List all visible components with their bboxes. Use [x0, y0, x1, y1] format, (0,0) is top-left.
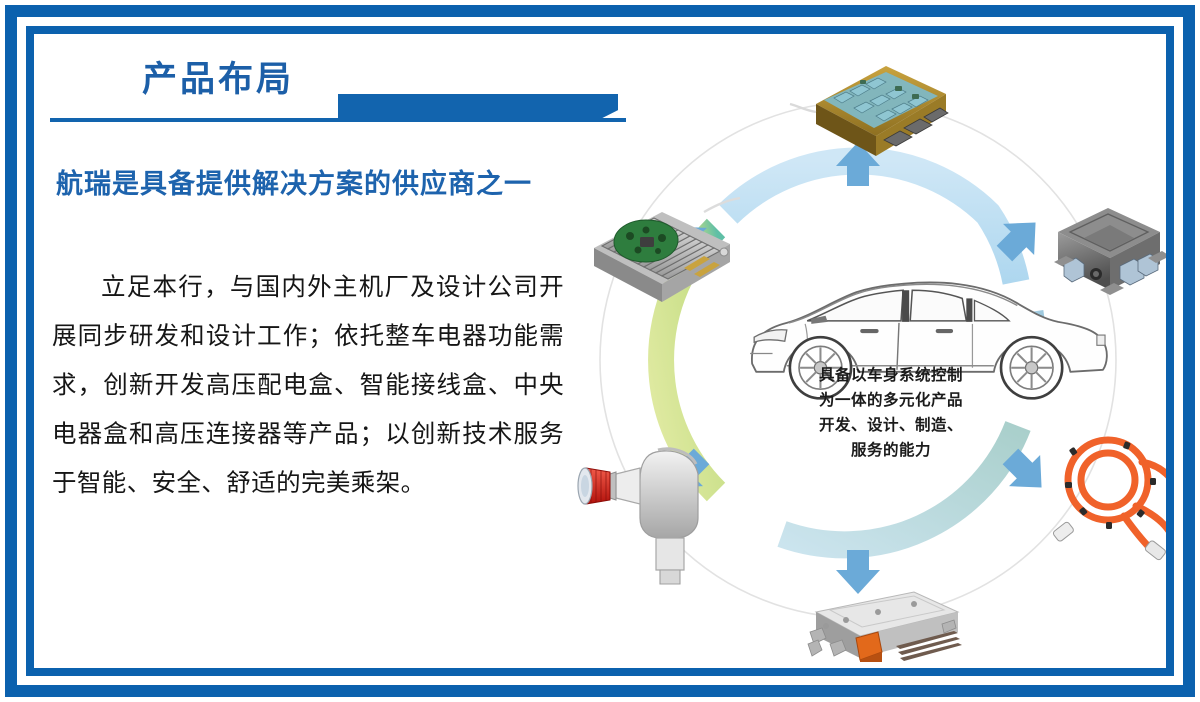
slide-root: 产品布局 航瑞是具备提供解决方案的供应商之一 立足本行，与国内外主机厂及设计公司…	[0, 0, 1200, 702]
center-caption-line-4: 服务的能力	[778, 437, 1004, 462]
center-caption-line-2: 为一体的多元化产品	[778, 387, 1004, 412]
title-block: 产品布局	[50, 58, 630, 130]
product-layout-diagram: 具备以车身系统控制 为一体的多元化产品 开发、设计、制造、 服务的能力	[550, 42, 1166, 662]
product-relay-fuse-module	[790, 66, 948, 156]
product-hv-cable-harness-orange	[1052, 440, 1166, 561]
center-caption-line-3: 开发、设计、制造、	[778, 412, 1004, 437]
arc-segment-top	[728, 161, 1016, 282]
product-ecu-heatsink-module	[594, 198, 740, 302]
page-title: 产品布局	[142, 58, 294, 102]
body-paragraph: 立足本行，与国内外主机厂及设计公司开展同步研发和设计工作；依托整车电器功能需求，…	[52, 262, 564, 507]
product-hv-distribution-box	[808, 592, 962, 662]
product-hv-connector-white-red	[578, 449, 698, 584]
diagram-canvas	[550, 42, 1166, 662]
center-caption-line-1: 具备以车身系统控制	[778, 362, 1004, 387]
product-junction-box-grey	[1054, 208, 1166, 295]
slide-canvas: 产品布局 航瑞是具备提供解决方案的供应商之一 立足本行，与国内外主机厂及设计公司…	[34, 34, 1166, 668]
center-caption: 具备以车身系统控制 为一体的多元化产品 开发、设计、制造、 服务的能力	[778, 362, 1004, 462]
section-subtitle: 航瑞是具备提供解决方案的供应商之一	[56, 162, 596, 201]
title-underline-rule	[50, 118, 626, 122]
